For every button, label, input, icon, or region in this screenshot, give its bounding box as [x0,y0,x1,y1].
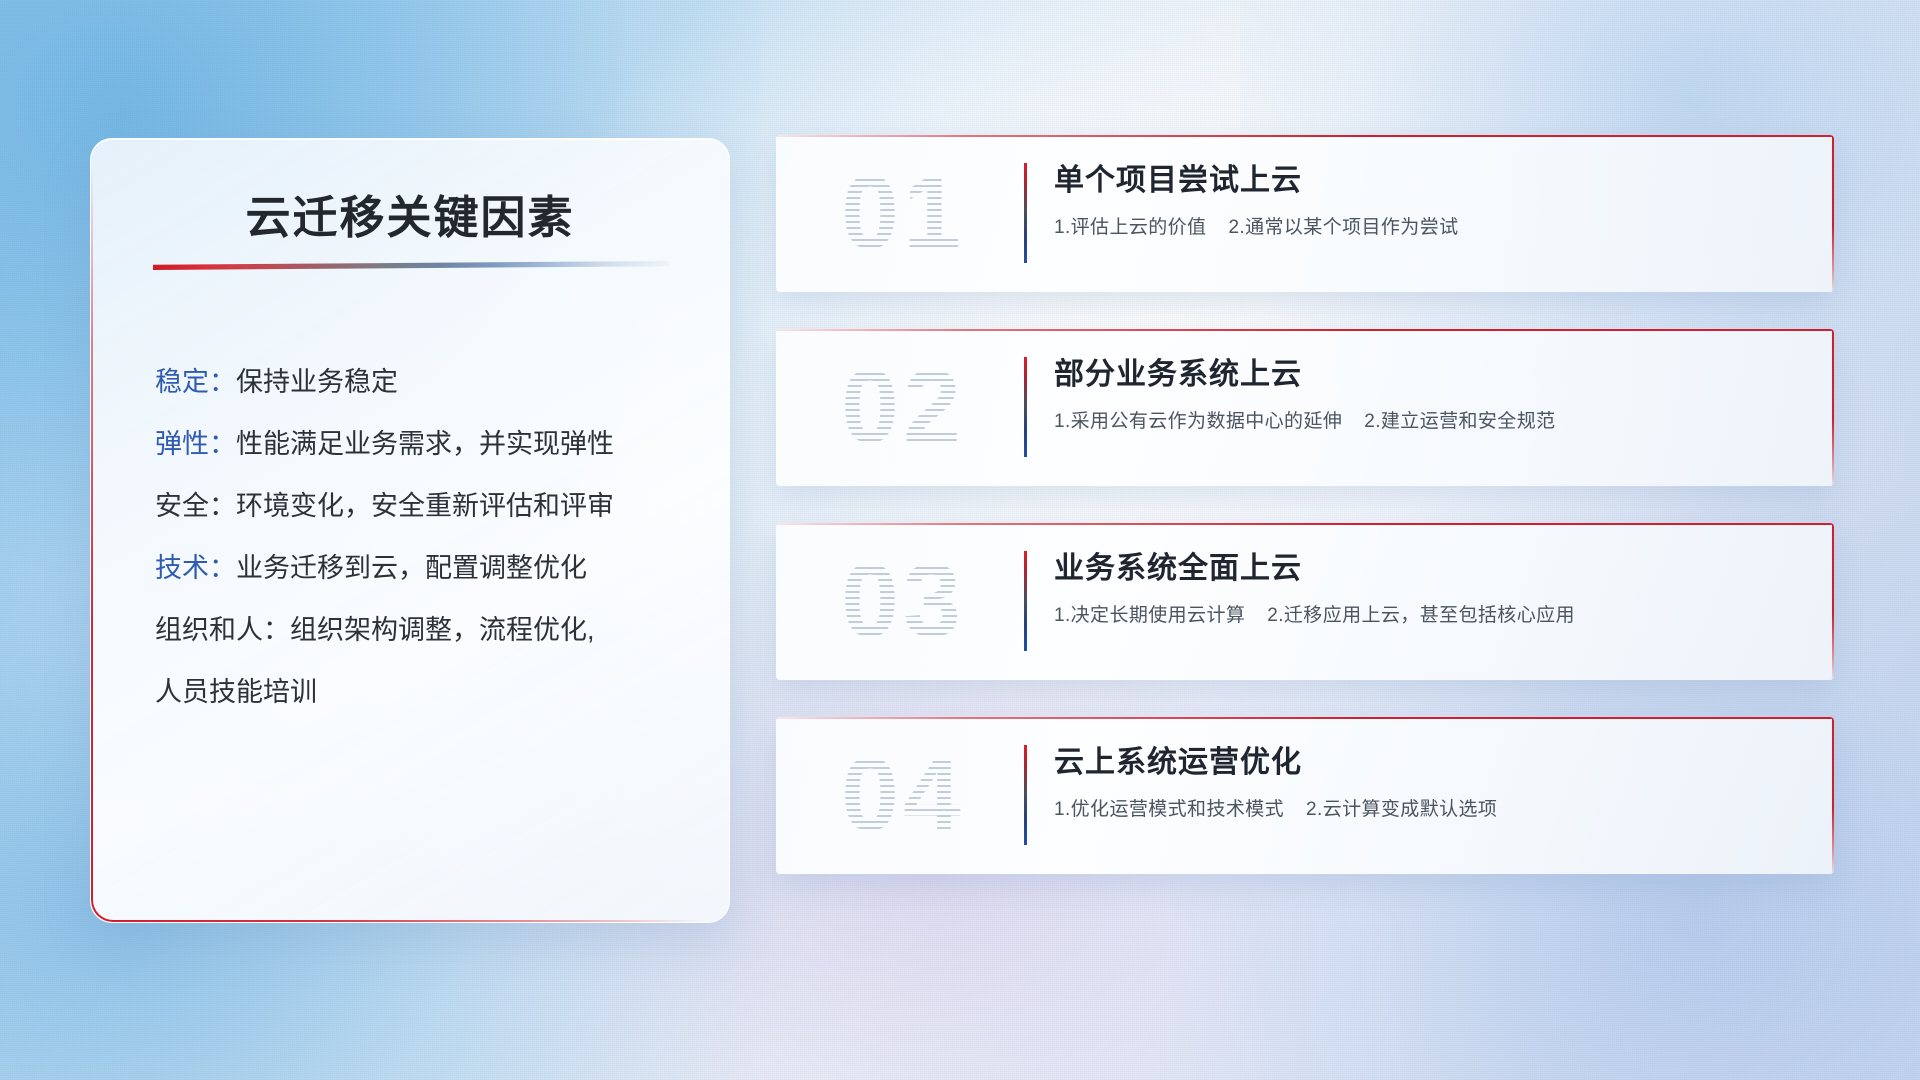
card-title: 业务系统全面上云 [1054,549,1800,589]
list-item: 安全：环境变化，安全重新评估和评审 [155,475,689,537]
list-item-text: 性能满足业务需求，并实现弹性 [236,429,614,459]
stage-card[interactable]: 04 云上系统运营优化 1.优化运营模式和技术模式2.云计算变成默认选项 [776,717,1834,874]
panel-bottom-accent-edge [115,920,705,922]
card-subtitle: 1.评估上云的价值2.通常以某个项目作为尝试 [1054,215,1800,241]
card-top-accent-edge [776,329,1834,331]
card-point-1: 1.决定长期使用云计算 [1054,605,1245,626]
card-point-2: 2.迁移应用上云，甚至包括核心应用 [1267,605,1575,626]
card-accent-bar [1024,551,1027,651]
card-subtitle: 1.采用公有云作为数据中心的延伸2.建立运营和安全规范 [1054,409,1800,435]
card-body: 云上系统运营优化 1.优化运营模式和技术模式2.云计算变成默认选项 [1054,743,1800,823]
stage-card[interactable]: 02 部分业务系统上云 1.采用公有云作为数据中心的延伸2.建立运营和安全规范 [776,329,1834,486]
list-item-key: 弹性： [155,429,236,459]
slide-stage: 云迁移关键因素 稳定：保持业务稳定 弹性：性能满足业务需求，并实现弹性 安全：环… [0,0,1920,1080]
list-item-key: 组织和人： [155,615,290,645]
card-title: 部分业务系统上云 [1054,355,1800,395]
card-point-1: 1.优化运营模式和技术模式 [1054,799,1284,820]
card-right-accent-edge [1832,135,1834,292]
card-right-accent-edge [1832,717,1834,874]
panel-title: 云迁移关键因素 [91,181,729,246]
migration-stage-cards: 01 单个项目尝试上云 1.评估上云的价值2.通常以某个项目作为尝试 02 部分… [776,135,1834,911]
panel-left-accent-edge [91,165,93,896]
card-point-2: 2.通常以某个项目作为尝试 [1228,217,1458,238]
card-title: 云上系统运营优化 [1054,743,1800,783]
list-item: 人员技能培训 [155,661,689,723]
card-subtitle: 1.优化运营模式和技术模式2.云计算变成默认选项 [1054,797,1800,823]
card-title: 单个项目尝试上云 [1054,161,1800,201]
card-point-1: 1.采用公有云作为数据中心的延伸 [1054,411,1342,432]
card-number: 03 [798,537,1008,665]
card-right-accent-edge [1832,523,1834,680]
list-item-key: 安全： [155,491,236,521]
card-body: 部分业务系统上云 1.采用公有云作为数据中心的延伸2.建立运营和安全规范 [1054,355,1800,435]
card-subtitle: 1.决定长期使用云计算2.迁移应用上云，甚至包括核心应用 [1054,603,1800,629]
list-item: 弹性：性能满足业务需求，并实现弹性 [155,413,689,475]
card-number: 01 [798,149,1008,277]
card-top-accent-edge [776,135,1834,137]
list-item-text: 环境变化，安全重新评估和评审 [236,491,614,521]
card-accent-bar [1024,163,1027,263]
card-top-accent-edge [776,523,1834,525]
list-item-key: 稳定： [155,367,236,397]
stage-card[interactable]: 03 业务系统全面上云 1.决定长期使用云计算2.迁移应用上云，甚至包括核心应用 [776,523,1834,680]
card-accent-bar [1024,745,1027,845]
card-number: 02 [798,343,1008,471]
stage-card[interactable]: 01 单个项目尝试上云 1.评估上云的价值2.通常以某个项目作为尝试 [776,135,1834,292]
list-item: 技术：业务迁移到云，配置调整优化 [155,537,689,599]
card-point-2: 2.云计算变成默认选项 [1306,799,1497,820]
key-factors-list: 稳定：保持业务稳定 弹性：性能满足业务需求，并实现弹性 安全：环境变化，安全重新… [155,351,689,723]
card-number: 04 [798,731,1008,859]
list-item: 稳定：保持业务稳定 [155,351,689,413]
card-point-1: 1.评估上云的价值 [1054,217,1206,238]
card-top-accent-edge [776,717,1834,719]
key-factors-panel: 云迁移关键因素 稳定：保持业务稳定 弹性：性能满足业务需求，并实现弹性 安全：环… [90,138,730,923]
card-body: 单个项目尝试上云 1.评估上云的价值2.通常以某个项目作为尝试 [1054,161,1800,241]
list-item-text: 业务迁移到云，配置调整优化 [236,553,587,583]
card-right-accent-edge [1832,329,1834,486]
list-item-text: 人员技能培训 [155,677,317,707]
list-item-text: 保持业务稳定 [236,367,398,397]
list-item-key: 技术： [155,553,236,583]
list-item-text: 组织架构调整，流程优化, [290,615,595,645]
card-point-2: 2.建立运营和安全规范 [1364,411,1555,432]
list-item: 组织和人：组织架构调整，流程优化, [155,599,689,661]
card-accent-bar [1024,357,1027,457]
card-body: 业务系统全面上云 1.决定长期使用云计算2.迁移应用上云，甚至包括核心应用 [1054,549,1800,629]
panel-bottom-left-corner-accent [91,876,137,922]
panel-title-gradient-rule [153,261,669,270]
